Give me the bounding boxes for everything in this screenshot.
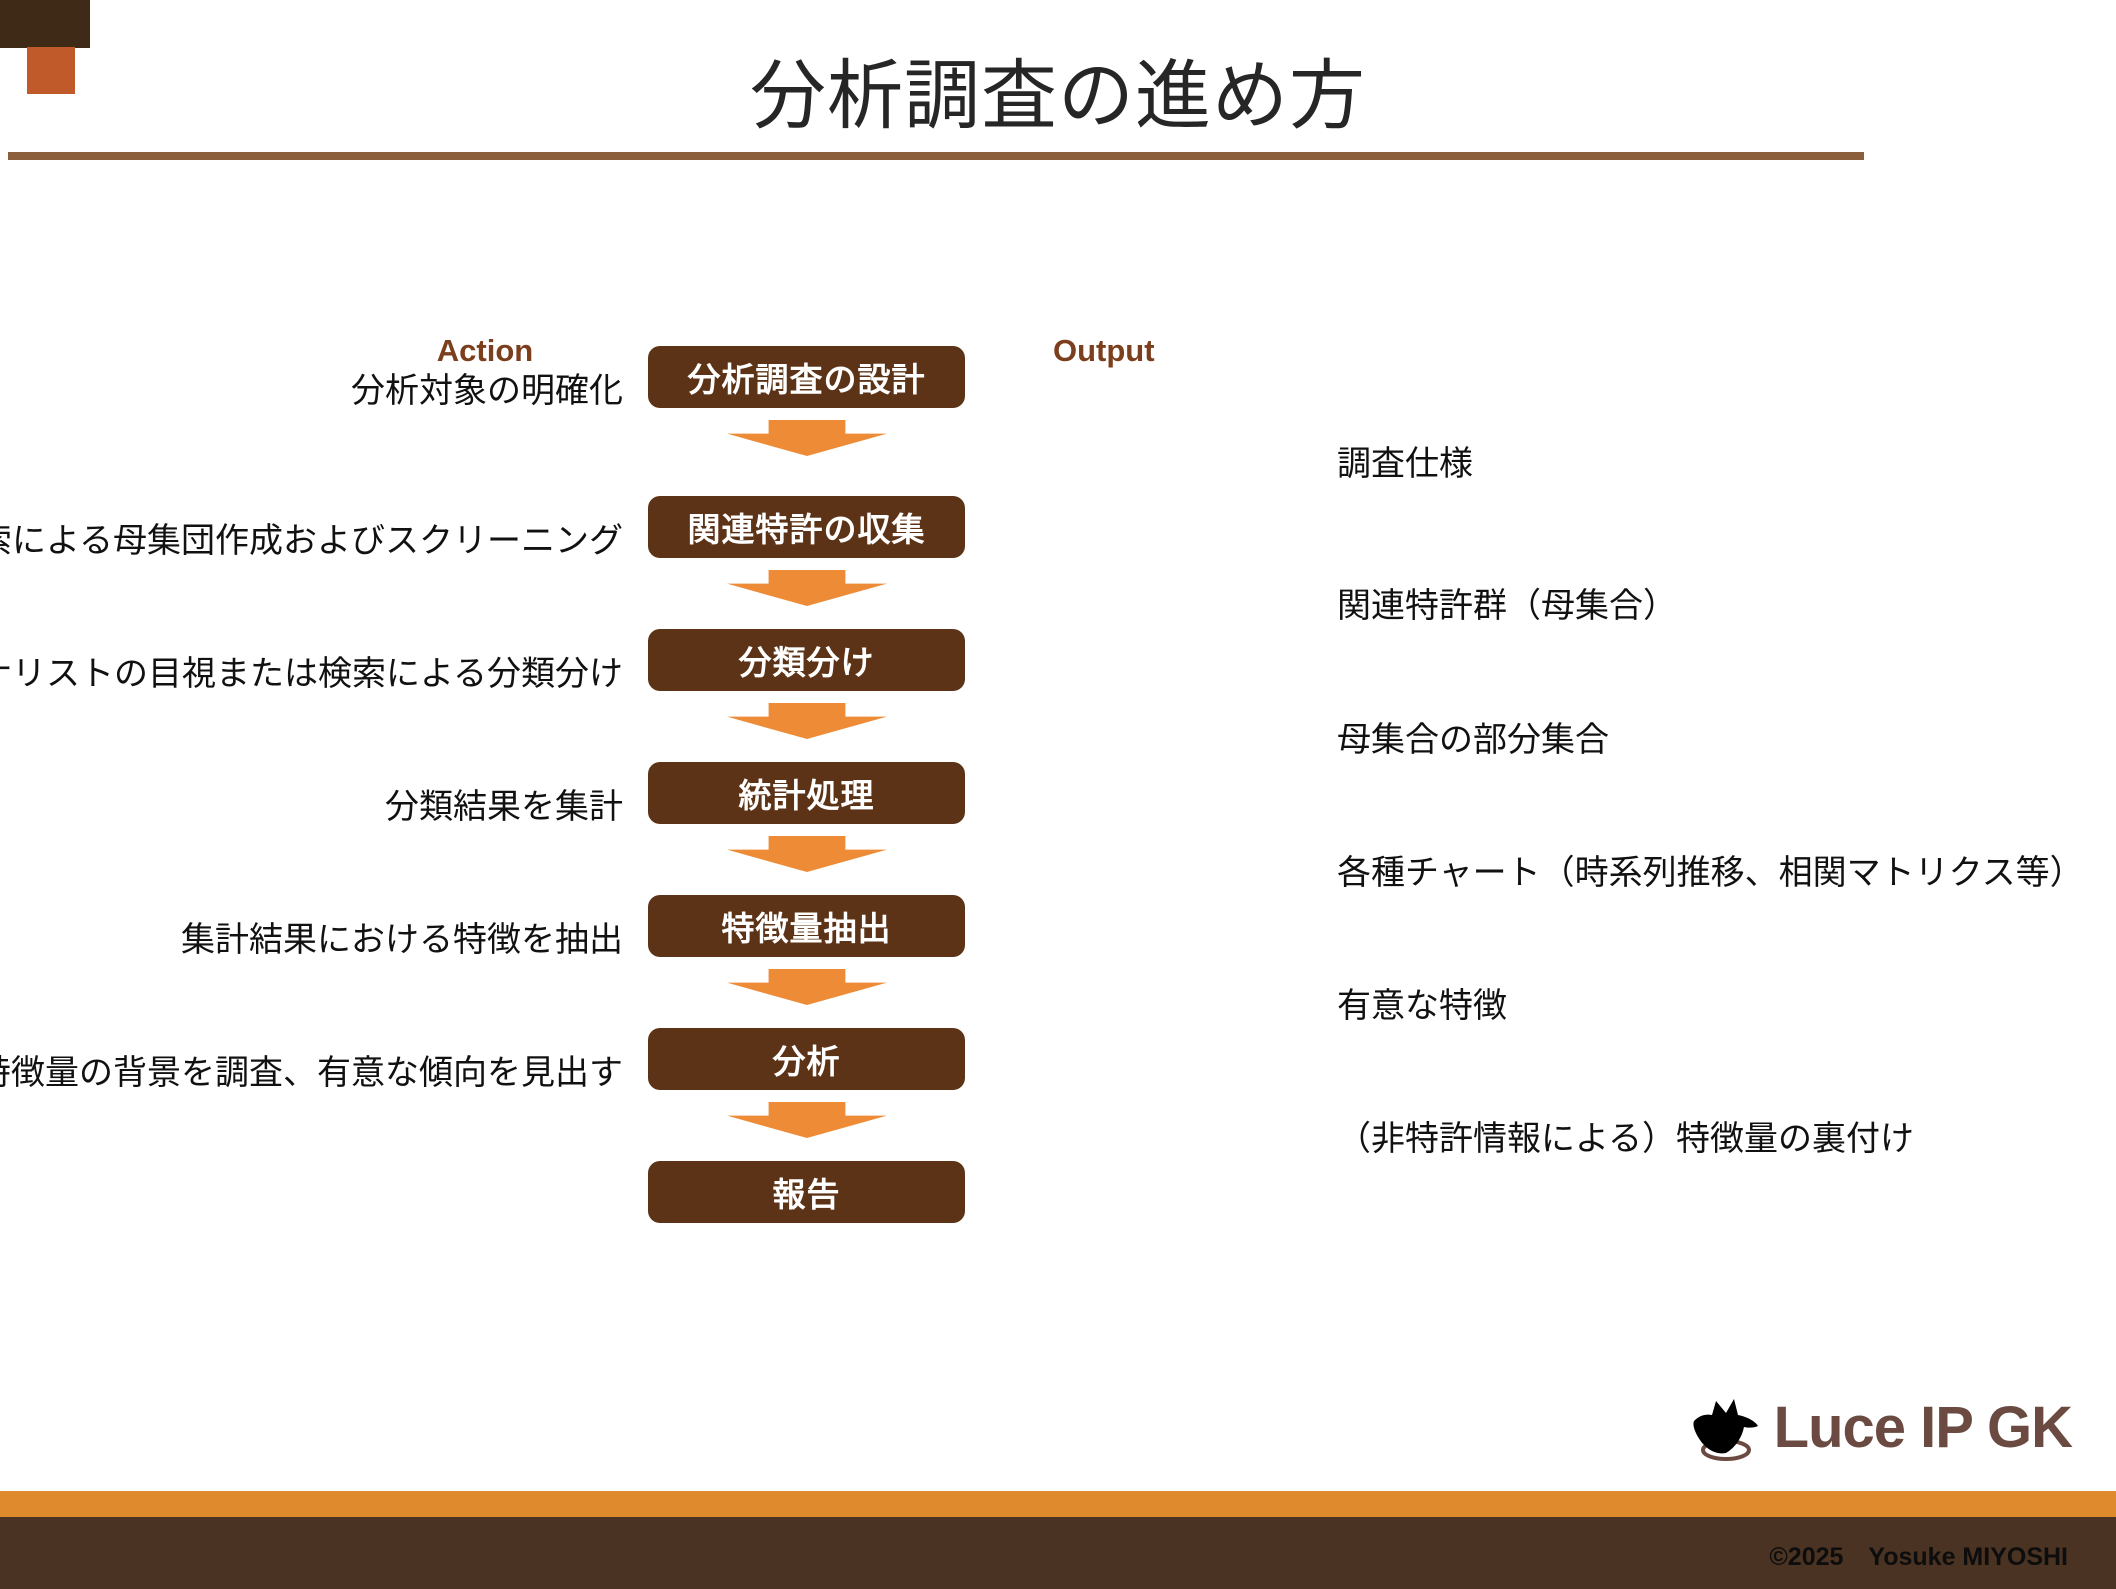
output-label-4: 各種チャート（時系列推移、相関マトリクス等）: [1337, 845, 2084, 894]
action-label-6: 特徴量の背景を調査、有意な傾向を見出す: [0, 1045, 623, 1094]
output-label-3: 母集合の部分集合: [1337, 712, 1609, 761]
process-flow-diagram: Action Output 分析対象の明確化 分析調査の設計 調査仕様 検索によ…: [0, 0, 2116, 1589]
process-box-1[interactable]: 分析調査の設計: [648, 346, 965, 408]
output-label-6: （非特許情報による）特徴量の裏付け: [1337, 1111, 1914, 1160]
column-header-output: Output: [1053, 333, 1155, 369]
process-box-3[interactable]: 分類分け: [648, 629, 965, 691]
process-box-6[interactable]: 分析: [648, 1028, 965, 1090]
flow-arrow-3: [727, 703, 887, 739]
copyright-text: ©2025 Yosuke MIYOSHI: [1769, 1537, 2068, 1573]
dog-head-icon: [1686, 1395, 1764, 1461]
process-box-4[interactable]: 統計処理: [648, 762, 965, 824]
action-label-1: 分析対象の明確化: [351, 363, 623, 412]
action-label-3: アナリストの目視または検索による分類分け: [0, 646, 623, 695]
flow-arrow-2: [727, 570, 887, 606]
flow-arrow-1: [727, 420, 887, 456]
process-box-5[interactable]: 特徴量抽出: [648, 895, 965, 957]
brand-logo: Luce IP GK: [1686, 1394, 2072, 1461]
action-label-2: 検索による母集団作成およびスクリーニング: [0, 513, 623, 562]
flow-arrow-5: [727, 969, 887, 1005]
flow-arrow-4: [727, 836, 887, 872]
footer-band-orange: [0, 1491, 2116, 1517]
action-label-5: 集計結果における特徴を抽出: [181, 912, 623, 961]
brand-logo-text: Luce IP GK: [1774, 1394, 2072, 1461]
process-box-7[interactable]: 報告: [648, 1161, 965, 1223]
output-label-5: 有意な特徴: [1337, 978, 1507, 1027]
output-label-1: 調査仕様: [1337, 436, 1473, 485]
action-label-4: 分類結果を集計: [385, 779, 623, 828]
output-label-2: 関連特許群（母集合）: [1337, 578, 1677, 627]
process-box-2[interactable]: 関連特許の収集: [648, 496, 965, 558]
flow-arrow-6: [727, 1102, 887, 1138]
